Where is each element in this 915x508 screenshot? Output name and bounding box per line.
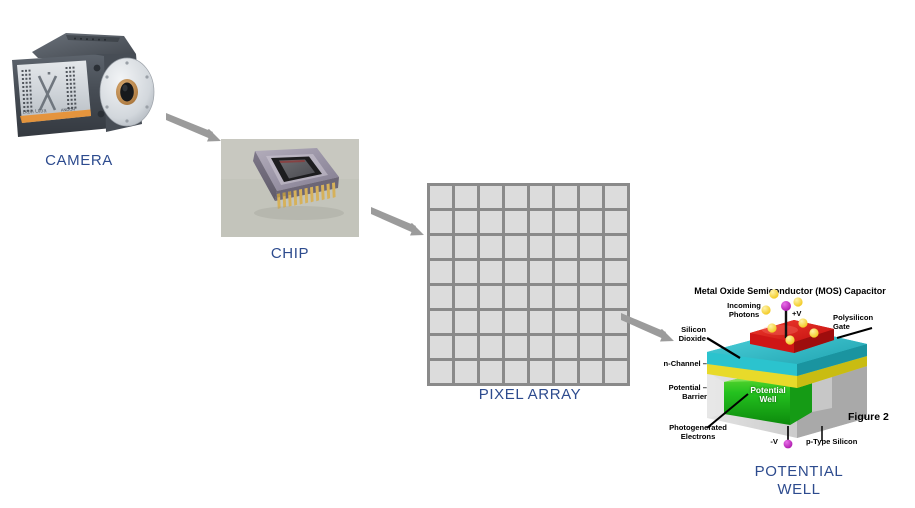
- pixel-cell: [430, 261, 452, 283]
- label-photogenerated-electrons: Photogenerated Electrons: [662, 424, 734, 441]
- label-n-channel: n-Channel –: [662, 360, 707, 369]
- figure-caption: Figure 2: [848, 411, 889, 423]
- pixel-cell: [455, 211, 477, 233]
- label-potential-barrier: Potential – Barrier: [662, 384, 707, 401]
- pixel-cell: [530, 336, 552, 358]
- pixel-cell: [530, 261, 552, 283]
- pixel-cell: [480, 236, 502, 258]
- pixel-cell: [580, 361, 602, 383]
- pixel-cell: [530, 311, 552, 333]
- pixel-cell: [505, 261, 527, 283]
- pixel-cell: [580, 186, 602, 208]
- pixel-cell: [505, 211, 527, 233]
- stage-label-camera: CAMERA: [8, 152, 150, 170]
- pixel-cell: [530, 361, 552, 383]
- pixel-cell: [580, 311, 602, 333]
- pixel-cell: [605, 261, 627, 283]
- pixel-cell: [455, 361, 477, 383]
- stage-label-potential-well: POTENTIAL WELL: [715, 463, 883, 499]
- pixel-cell: [530, 186, 552, 208]
- label-polysilicon-gate: Polysilicon Gate: [833, 314, 895, 331]
- chip-photo: [221, 139, 359, 237]
- pixel-array-image: [427, 183, 630, 386]
- pixel-cell: [555, 236, 577, 258]
- pixel-cell: [555, 211, 577, 233]
- chip-image: [221, 139, 359, 237]
- pixel-cell: [580, 261, 602, 283]
- pixel-cell: [505, 286, 527, 308]
- pixel-cell: [505, 361, 527, 383]
- pixel-cell: [430, 286, 452, 308]
- pixel-cell: [555, 186, 577, 208]
- pixel-cell: [580, 211, 602, 233]
- pixel-cell: [555, 261, 577, 283]
- pixel-cell: [505, 186, 527, 208]
- pixel-cell: [455, 236, 477, 258]
- mos-capacitor-figure: Metal Oxide Semiconductor (MOS) Capacito…: [662, 286, 912, 451]
- pixel-cell: [455, 261, 477, 283]
- pixel-cell: [580, 336, 602, 358]
- pixel-cell: [580, 236, 602, 258]
- pixel-grid: [427, 183, 630, 386]
- pixel-cell: [480, 286, 502, 308]
- label-silicon-dioxide: Silicon Dioxide: [664, 326, 706, 343]
- label-negative-voltage: -V: [754, 438, 778, 447]
- pixel-cell: [505, 311, 527, 333]
- label-p-type-silicon: p-Type Silicon: [806, 438, 876, 447]
- label-potential-well: Potential Well: [737, 386, 799, 405]
- pixel-cell: [455, 186, 477, 208]
- camera-image: iXon Ultra ANDOR: [8, 24, 168, 142]
- pixel-cell: [555, 311, 577, 333]
- pixel-cell: [605, 236, 627, 258]
- pixel-cell: [455, 336, 477, 358]
- stage-label-pixel-array: PIXEL ARRAY: [427, 386, 633, 404]
- pixel-cell: [430, 311, 452, 333]
- positive-terminal-node: [781, 301, 791, 311]
- pixel-cell: [430, 336, 452, 358]
- photon-dot: [793, 297, 802, 306]
- pixel-cell: [430, 211, 452, 233]
- pixel-cell: [530, 236, 552, 258]
- pixel-cell: [430, 361, 452, 383]
- diagram-canvas: iXon Ultra ANDOR CAMERA: [0, 0, 915, 508]
- photon-dot: [809, 328, 818, 337]
- pixel-cell: [505, 336, 527, 358]
- pixel-cell: [430, 186, 452, 208]
- pixel-cell: [480, 211, 502, 233]
- camera-illustration: iXon Ultra ANDOR: [8, 24, 168, 142]
- negative-terminal-node: [784, 440, 793, 449]
- pixel-cell: [605, 286, 627, 308]
- photon-dot: [769, 289, 778, 298]
- pixel-cell: [480, 361, 502, 383]
- pixel-cell: [430, 236, 452, 258]
- photon-dot: [785, 335, 794, 344]
- pixel-cell: [455, 286, 477, 308]
- photon-dot: [767, 323, 776, 332]
- pixel-cell: [605, 186, 627, 208]
- pixel-cell: [480, 336, 502, 358]
- pixel-cell: [580, 286, 602, 308]
- pixel-cell: [555, 286, 577, 308]
- pixel-cell: [530, 211, 552, 233]
- pixel-cell: [455, 311, 477, 333]
- pixel-cell: [605, 361, 627, 383]
- stage-label-chip: CHIP: [221, 245, 359, 263]
- pixel-cell: [480, 186, 502, 208]
- pixel-cell: [505, 236, 527, 258]
- label-positive-voltage: +V: [792, 310, 802, 319]
- pixel-cell: [555, 336, 577, 358]
- camera-sensor-aperture: [120, 83, 134, 102]
- pixel-cell: [530, 286, 552, 308]
- pixel-cell: [480, 311, 502, 333]
- pixel-cell: [605, 211, 627, 233]
- photon-dot: [798, 318, 807, 327]
- chip-illustration: [221, 139, 359, 237]
- pixel-cell: [555, 361, 577, 383]
- label-incoming-photons: Incoming Photons: [718, 302, 770, 319]
- pixel-cell: [480, 261, 502, 283]
